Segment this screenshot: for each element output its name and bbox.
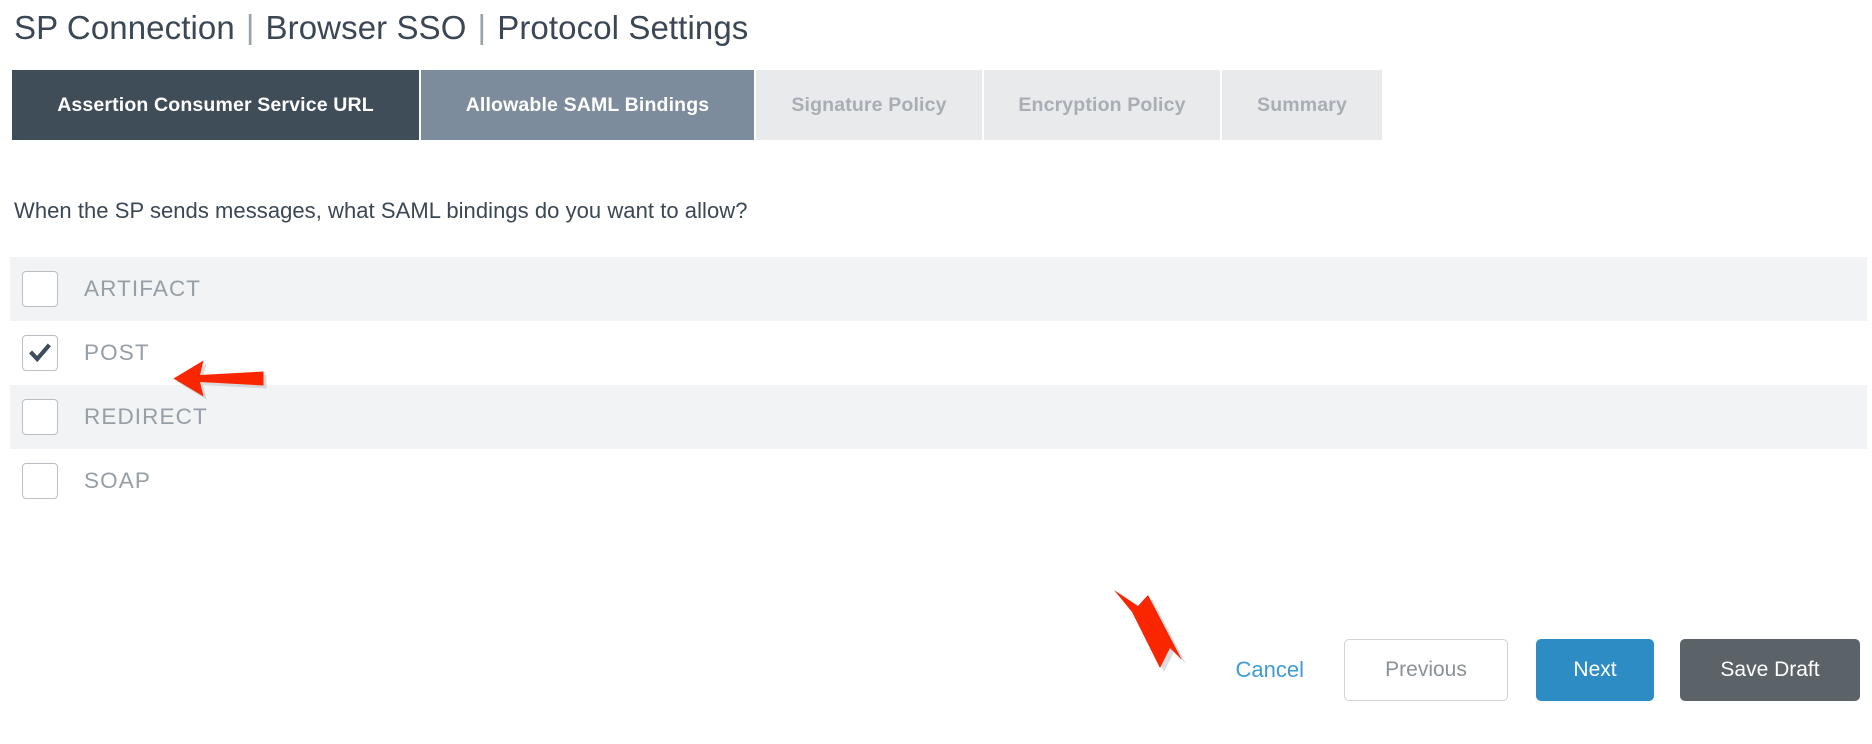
breadcrumb-item-browser-sso: Browser SSO (266, 9, 467, 47)
list-item-label: REDIRECT (84, 404, 208, 430)
page-title: Protocol Settings (497, 9, 748, 47)
breadcrumb-separator: | (478, 8, 487, 46)
next-button[interactable]: Next (1536, 639, 1654, 701)
previous-button[interactable]: Previous (1344, 639, 1508, 701)
breadcrumb-item-sp-connection: SP Connection (14, 9, 235, 47)
tab-summary[interactable]: Summary (1222, 70, 1382, 140)
list-item[interactable]: REDIRECT (10, 385, 1867, 449)
list-item[interactable]: ARTIFACT (10, 257, 1867, 321)
wizard-tab-strip: Assertion Consumer Service URL Allowable… (12, 70, 1382, 140)
checkbox-artifact[interactable] (22, 271, 58, 307)
list-item[interactable]: POST (10, 321, 1867, 385)
tab-label: Assertion Consumer Service URL (57, 94, 374, 117)
saml-bindings-list: ARTIFACT POST REDIRECT (10, 257, 1867, 513)
tab-label: Summary (1257, 94, 1347, 117)
tab-label: Allowable SAML Bindings (466, 94, 710, 117)
breadcrumb: SP Connection | Browser SSO | Protocol S… (14, 6, 748, 50)
list-item-label: POST (84, 340, 150, 366)
tab-allowable-saml-bindings[interactable]: Allowable SAML Bindings (421, 70, 754, 140)
wizard-action-bar: Cancel Previous Next Save Draft (1236, 639, 1860, 701)
cancel-button[interactable]: Cancel (1236, 657, 1304, 683)
list-item-label: SOAP (84, 468, 151, 494)
breadcrumb-separator: | (246, 8, 255, 46)
checkbox-redirect[interactable] (22, 399, 58, 435)
list-item[interactable]: SOAP (10, 449, 1867, 513)
save-draft-button[interactable]: Save Draft (1680, 639, 1860, 701)
list-item-label: ARTIFACT (84, 276, 201, 302)
checkbox-post[interactable] (22, 335, 58, 371)
tab-signature-policy[interactable]: Signature Policy (756, 70, 982, 140)
tab-label: Encryption Policy (1018, 94, 1185, 117)
arrow-pointing-at-next-button (1108, 584, 1220, 683)
tab-label: Signature Policy (791, 94, 946, 117)
checkbox-soap[interactable] (22, 463, 58, 499)
tab-assertion-consumer-service-url[interactable]: Assertion Consumer Service URL (12, 70, 419, 140)
checkmark-icon (23, 336, 57, 370)
question-prompt: When the SP sends messages, what SAML bi… (14, 198, 747, 224)
tab-encryption-policy[interactable]: Encryption Policy (984, 70, 1220, 140)
